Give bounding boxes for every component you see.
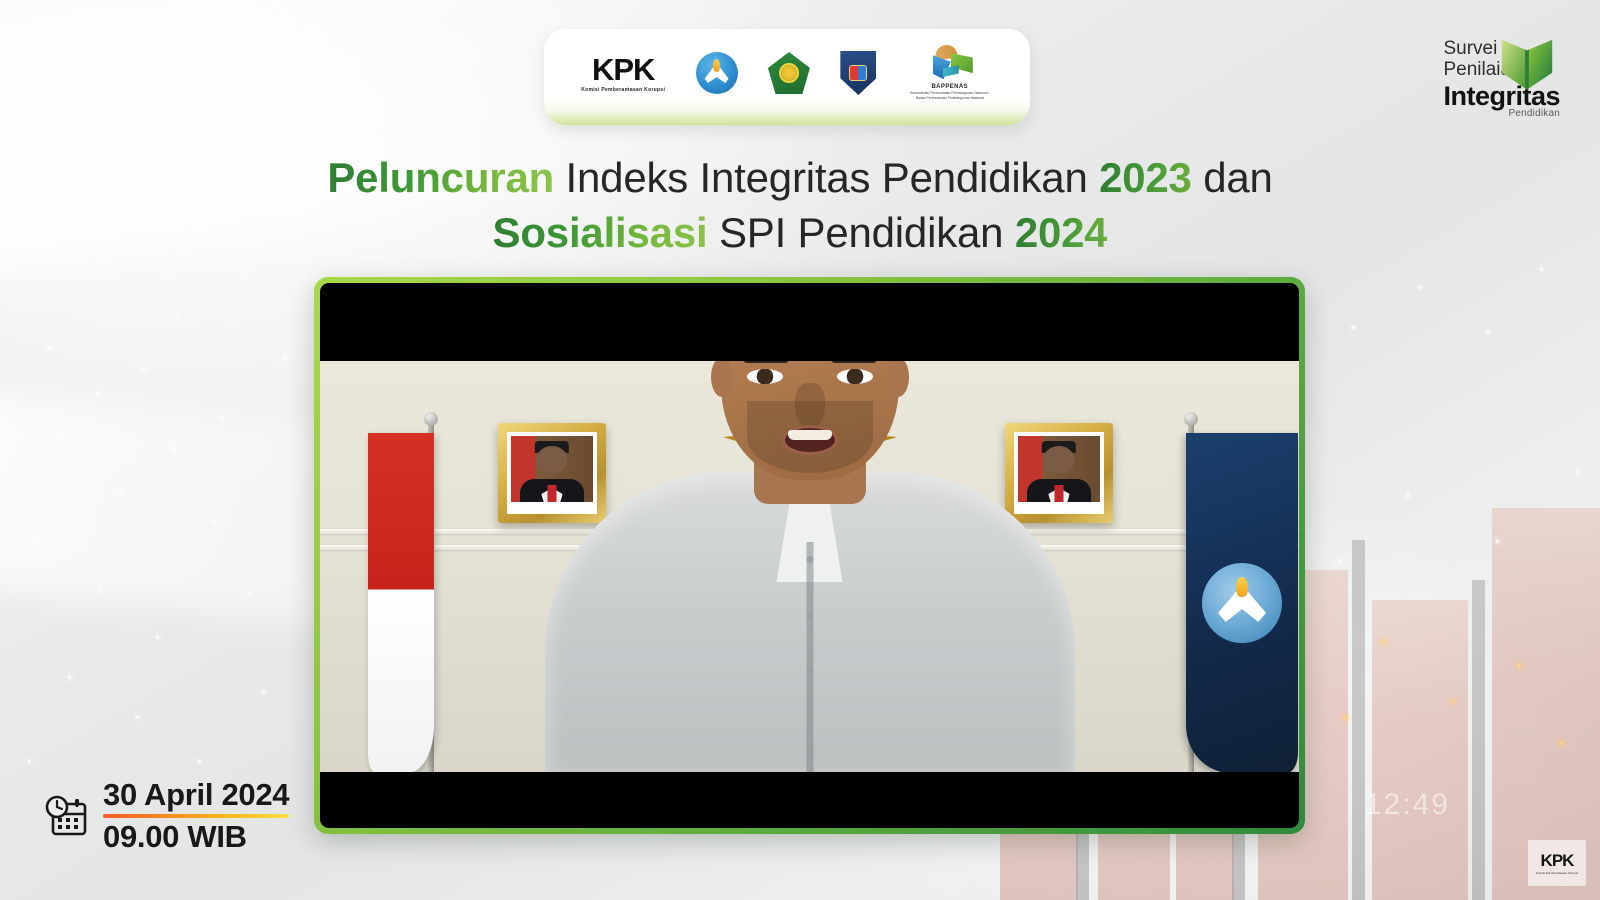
watermark-wordmark: KPK — [1541, 852, 1574, 869]
green-book-icon — [1496, 34, 1558, 96]
event-date: 30 April 2024 — [103, 779, 289, 812]
title-year-2024: 2024 — [1015, 209, 1108, 256]
bappenas-tagline: Kementerian Perencanaan Pembangunan Nasi… — [907, 91, 993, 101]
presentation-stage: 12:49 — [0, 0, 1600, 900]
title-text-dan: dan — [1192, 154, 1273, 201]
page-title: Peluncuran Indeks Integritas Pendidikan … — [0, 150, 1600, 261]
title-line-1: Peluncuran Indeks Integritas Pendidikan … — [0, 150, 1600, 205]
spi-pendidikan-logo: Survei Penilaian Integritas Pendidikan — [1443, 38, 1560, 119]
title-word-peluncuran: Peluncuran — [327, 154, 554, 201]
video-letterbox-top — [320, 283, 1299, 361]
calendar-clock-icon — [42, 793, 90, 841]
video-overlay-timecode: 12:49 — [1365, 788, 1450, 822]
title-line-2: Sosialisasi SPI Pendidikan 2024 — [0, 205, 1600, 260]
video-viewport[interactable] — [320, 283, 1299, 828]
bappenas-wordmark: BAPPENAS — [931, 84, 968, 90]
kemenag-logo — [768, 52, 810, 94]
ministry-emblem-icon — [1202, 563, 1282, 643]
speaker-figure — [540, 332, 1080, 772]
live-video-player[interactable] — [314, 277, 1305, 834]
title-word-sosialisasi: Sosialisasi — [493, 209, 708, 256]
partner-logo-bar: KPK Komisi Pemberantasan Korupsi — [544, 29, 1030, 125]
date-divider — [103, 814, 289, 818]
ministry-flag — [1186, 433, 1298, 773]
title-year-2023: 2023 — [1099, 154, 1192, 201]
tut-wuri-handayani-icon — [696, 52, 738, 94]
event-time: 09.00 WIB — [103, 820, 289, 854]
kemendikbud-logo — [696, 52, 738, 94]
bappenas-logo: BAPPENAS Kementerian Perencanaan Pembang… — [907, 45, 993, 101]
kpk-watermark: KPK Komisi Pemberantasan Korupsi — [1528, 840, 1586, 886]
event-schedule-badge: 30 April 2024 09.00 WIB — [42, 779, 289, 854]
video-scene — [320, 283, 1299, 828]
kpk-tagline: Komisi Pemberantasan Korupsi — [581, 87, 665, 93]
title-text-spi: SPI Pendidikan — [707, 209, 1014, 256]
bappenas-glyph-icon — [927, 45, 973, 81]
indonesian-flag — [368, 433, 434, 773]
watermark-tagline: Komisi Pemberantasan Korupsi — [1536, 871, 1578, 875]
kemendagri-shield-icon — [840, 51, 876, 95]
kemenag-pentagon-icon — [768, 52, 810, 94]
speaker-garment — [545, 472, 1075, 772]
title-text-indeks: Indeks Integritas Pendidikan — [554, 154, 1099, 201]
kemendagri-logo — [840, 51, 876, 95]
kpk-wordmark: KPK — [592, 54, 654, 85]
kpk-logo: KPK Komisi Pemberantasan Korupsi — [581, 54, 665, 93]
video-letterbox-bottom — [320, 772, 1299, 828]
